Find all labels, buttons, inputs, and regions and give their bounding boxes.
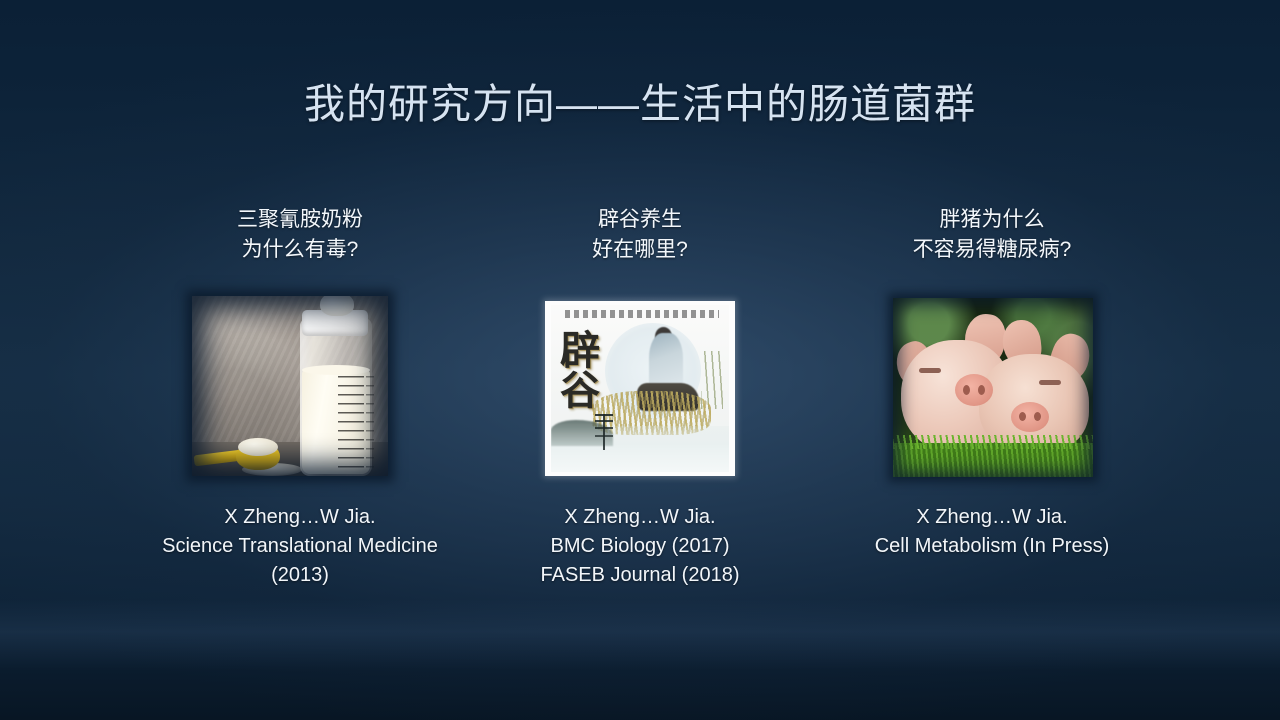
citation-line-2: Science Translational Medicine	[130, 532, 470, 561]
topic-column-bigu: 辟谷养生 好在哪里?	[470, 205, 810, 265]
citation-line-1: X Zheng…W Jia.	[822, 503, 1162, 532]
baby-bottle-milk-powder-photo	[192, 296, 388, 476]
topic-heading: 三聚氰胺奶粉 为什么有毒?	[130, 205, 470, 265]
topic-column-pig-diabetes: 胖猪为什么 不容易得糖尿病?	[822, 205, 1162, 265]
topic-heading-line-2: 好在哪里?	[470, 235, 810, 265]
calligraphy-character-bi: 辟	[560, 331, 600, 371]
citation-line-1: X Zheng…W Jia.	[470, 503, 810, 532]
topic-column-melamine: 三聚氰胺奶粉 为什么有毒?	[130, 205, 470, 265]
citation-line-3: (2013)	[130, 561, 470, 590]
citation-line-2: Cell Metabolism (In Press)	[822, 532, 1162, 561]
topic-heading-line-1: 辟谷养生	[470, 205, 810, 235]
poster-tagline-text	[565, 310, 719, 318]
topic-heading: 胖猪为什么 不容易得糖尿病?	[822, 205, 1162, 265]
poster-inner: 辟 谷	[551, 305, 729, 472]
topic-citation: X Zheng…W Jia. Science Translational Med…	[130, 503, 470, 590]
citation-line-2: BMC Biology (2017)	[470, 532, 810, 561]
research-topics-row: 三聚氰胺奶粉 为什么有毒? X Zheng…W Jia.	[0, 0, 1280, 720]
citation-line-3: FASEB Journal (2018)	[470, 561, 810, 590]
calligraphy-character-gu: 谷	[560, 371, 600, 411]
topic-heading-line-1: 三聚氰胺奶粉	[130, 205, 470, 235]
topic-heading-line-2: 不容易得糖尿病?	[822, 235, 1162, 265]
topic-heading-line-2: 为什么有毒?	[130, 235, 470, 265]
two-pigs-on-grass-photo	[893, 298, 1093, 477]
photo-vignette	[192, 296, 388, 476]
bigu-ink-painting-poster: 辟 谷	[545, 301, 735, 476]
topic-citation: X Zheng…W Jia. Cell Metabolism (In Press…	[822, 503, 1162, 561]
topic-citation: X Zheng…W Jia. BMC Biology (2017) FASEB …	[470, 503, 810, 590]
citation-line-1: X Zheng…W Jia.	[130, 503, 470, 532]
topic-heading-line-1: 胖猪为什么	[822, 205, 1162, 235]
presentation-slide: 我的研究方向——生活中的肠道菌群 三聚氰胺奶粉 为什么有毒?	[0, 0, 1280, 720]
pagoda	[595, 414, 613, 450]
topic-heading: 辟谷养生 好在哪里?	[470, 205, 810, 265]
photo-vignette	[893, 298, 1093, 477]
